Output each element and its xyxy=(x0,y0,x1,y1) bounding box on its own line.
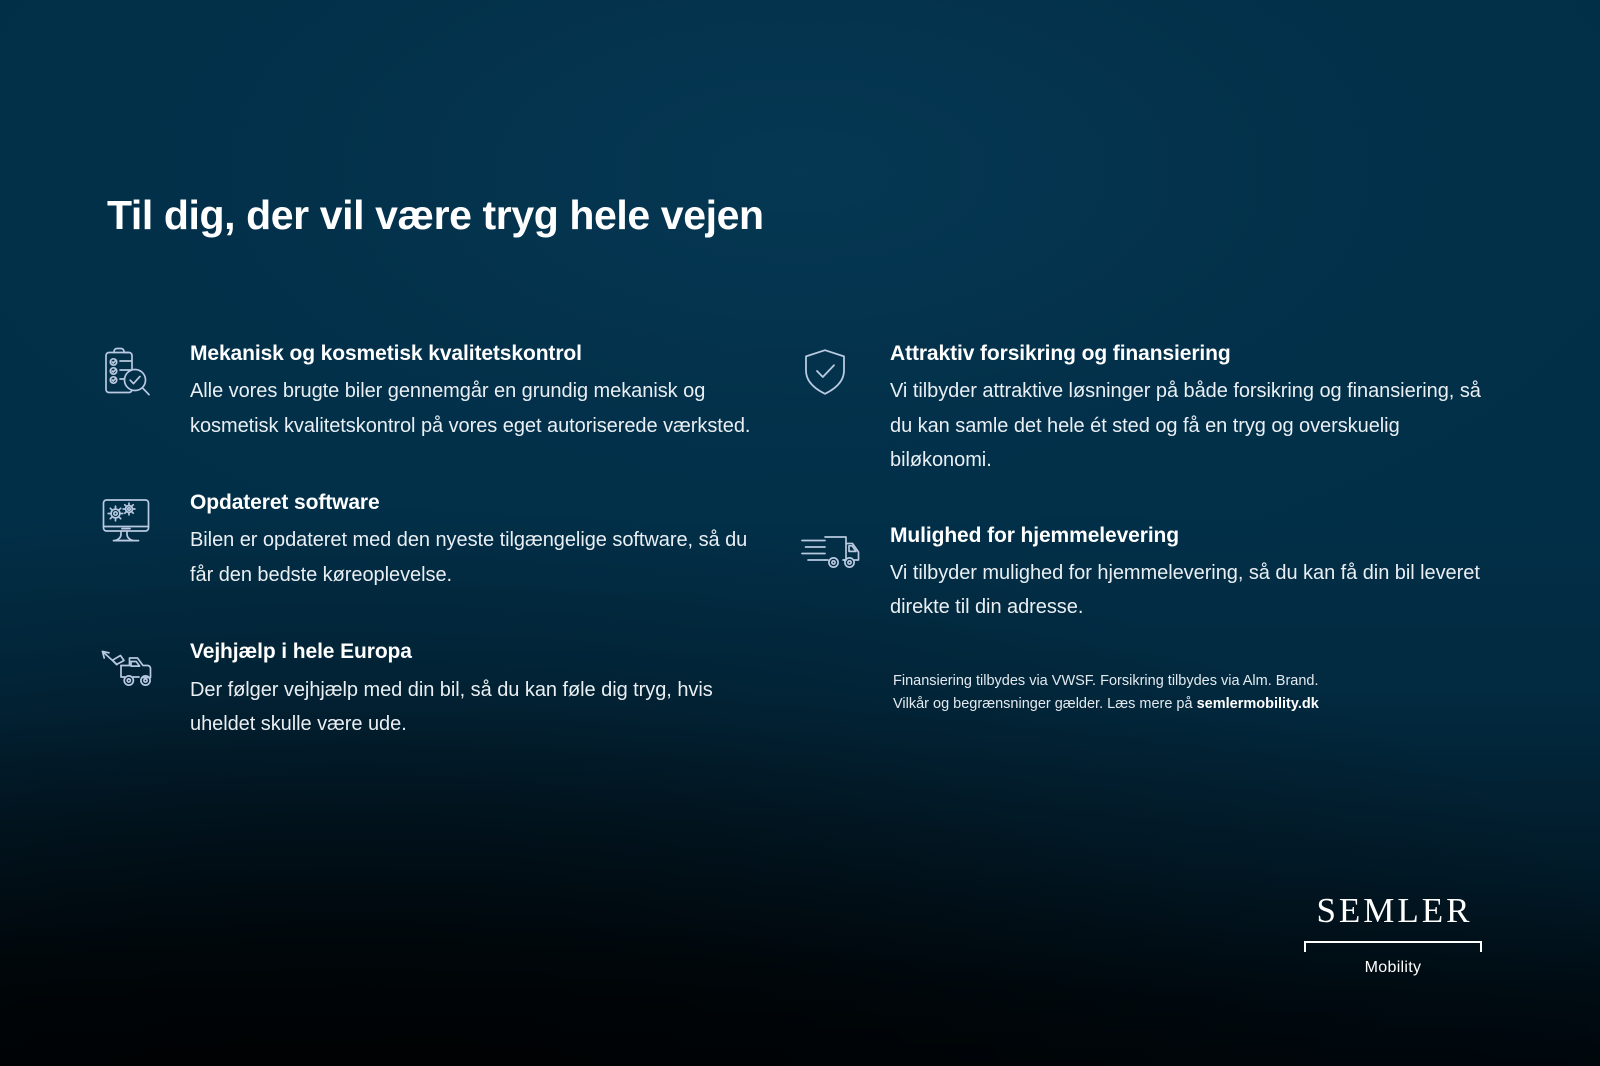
feature-title: Vejhjælp i hele Europa xyxy=(190,638,760,666)
logo-subtitle: Mobility xyxy=(1304,959,1482,977)
logo-rule-tick-left xyxy=(1304,941,1306,952)
feature-item-insurance-financing: Attraktiv forsikring og finansiering Vi … xyxy=(800,340,1490,478)
semlermobility-link[interactable]: semlermobility.dk xyxy=(1197,696,1319,712)
tow-truck-icon xyxy=(100,644,162,696)
logo-divider-rule xyxy=(1304,941,1482,952)
page-title: Til dig, der vil være tryg hele vejen xyxy=(107,192,764,239)
feature-title: Opdateret software xyxy=(190,489,760,517)
delivery-truck-icon xyxy=(800,528,862,580)
shield-check-icon xyxy=(800,346,862,398)
disclaimer-line-1: Finansiering tilbydes via VWSF. Forsikri… xyxy=(893,673,1319,689)
disclaimer-line-2-text: Vilkår og begrænsninger gælder. Læs mere… xyxy=(893,696,1197,712)
semler-mobility-logo: SEMLER Mobility xyxy=(1304,893,1482,977)
feature-title: Attraktiv forsikring og finansiering xyxy=(890,340,1490,368)
promo-panel: Til dig, der vil være tryg hele vejen xyxy=(0,0,1600,1066)
feature-description: Bilen er opdateret med den nyeste tilgæn… xyxy=(190,523,760,592)
feature-item-roadside-assistance: Vejhjælp i hele Europa Der følger vejhjæ… xyxy=(100,638,760,741)
feature-item-updated-software: Opdateret software Bilen er opdateret me… xyxy=(100,489,760,592)
clipboard-check-magnifier-icon xyxy=(100,346,162,398)
feature-description: Vi tilbyder attraktive løsninger på både… xyxy=(890,374,1490,477)
feature-column-right: Attraktiv forsikring og finansiering Vi … xyxy=(800,340,1490,669)
feature-description: Vi tilbyder mulighed for hjemmelevering,… xyxy=(890,556,1490,625)
feature-title: Mekanisk og kosmetisk kvalitetskontrol xyxy=(190,340,760,368)
feature-description: Alle vores brugte biler gennemgår en gru… xyxy=(190,374,760,443)
logo-rule-tick-right xyxy=(1480,941,1482,952)
feature-item-home-delivery: Mulighed for hjemmelevering Vi tilbyder … xyxy=(800,522,1490,625)
logo-wordmark: SEMLER xyxy=(1304,893,1482,928)
legal-disclaimer: Finansiering tilbydes via VWSF. Forsikri… xyxy=(893,670,1413,717)
monitor-gears-icon xyxy=(100,495,162,547)
feature-description: Der følger vejhjælp med din bil, så du k… xyxy=(190,673,760,742)
feature-column-left: Mekanisk og kosmetisk kvalitetskontrol A… xyxy=(100,340,760,785)
feature-item-quality-control: Mekanisk og kosmetisk kvalitetskontrol A… xyxy=(100,340,760,443)
feature-title: Mulighed for hjemmelevering xyxy=(890,522,1490,550)
